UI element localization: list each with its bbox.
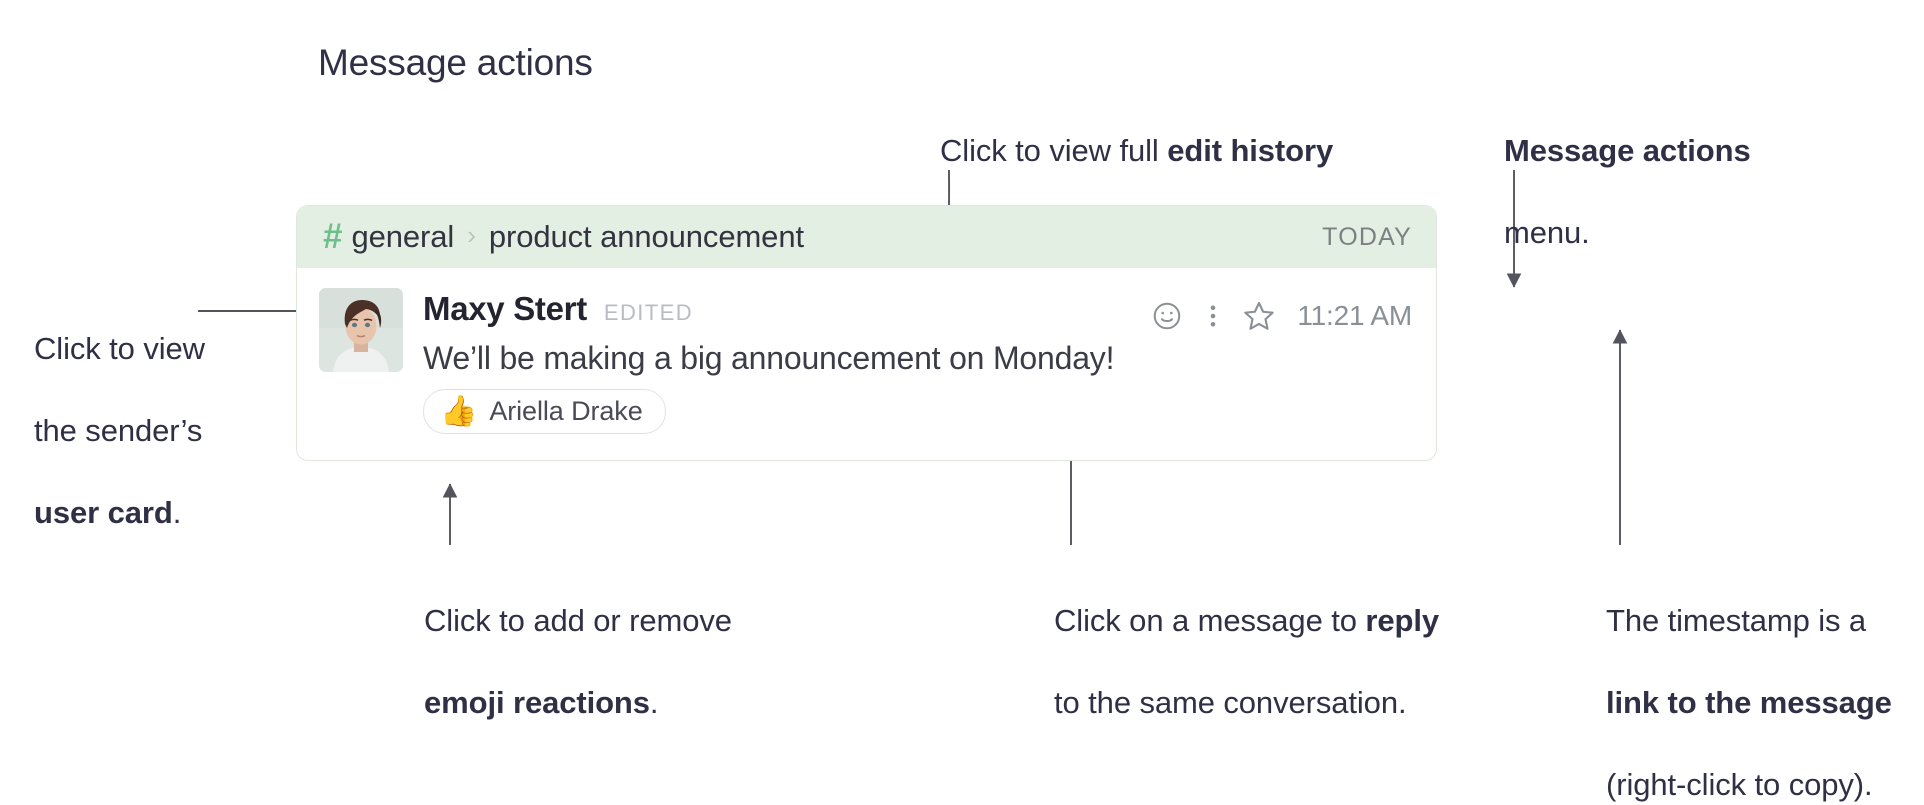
- annotation-reply-line1-bold: reply: [1365, 603, 1439, 638]
- date-label: TODAY: [1322, 223, 1412, 252]
- sender-name[interactable]: Maxy Stert: [423, 290, 587, 328]
- annotation-user-card-line3-bold: user card: [34, 495, 173, 530]
- annotation-actions-menu: Message actions menu.: [1504, 90, 1804, 254]
- annotation-emoji-reactions-line2-bold: emoji reactions: [424, 685, 650, 720]
- reaction-pill[interactable]: 👍 Ariella Drake: [423, 389, 666, 434]
- channel-header: # general › product announcement TODAY: [297, 206, 1436, 268]
- annotation-user-card-line2: the sender’s: [34, 413, 202, 448]
- thumbs-up-emoji: 👍: [440, 397, 477, 427]
- reaction-user-name: Ariella Drake: [489, 396, 642, 427]
- message-card: # general › product announcement TODAY: [296, 205, 1437, 461]
- annotation-emoji-reactions-line1: Click to add or remove: [424, 603, 732, 638]
- message-text[interactable]: We’ll be making a big announcement on Mo…: [423, 340, 1416, 377]
- breadcrumb-topic[interactable]: product announcement: [489, 219, 804, 255]
- message-actions-toolbar: 11:21 AM: [1141, 296, 1412, 336]
- annotation-reply-line2: to the same conversation.: [1054, 685, 1406, 720]
- message-row[interactable]: Maxy Stert EDITED We’ll be making a big …: [297, 268, 1436, 461]
- breadcrumb-channel[interactable]: general: [351, 219, 454, 255]
- annotation-edit-history-line1-bold: edit history: [1167, 133, 1333, 168]
- annotation-user-card: Click to view the sender’s user card.: [34, 288, 224, 533]
- avatar[interactable]: [319, 288, 403, 372]
- diagram-canvas: Message actions Click to view the sender…: [0, 0, 1924, 696]
- reactions-row: 👍 Ariella Drake: [423, 389, 1436, 434]
- annotation-reply: Click on a message to reply to the same …: [1054, 560, 1474, 724]
- annotation-timestamp-link-line1: The timestamp is a: [1606, 603, 1866, 638]
- star-outline-icon[interactable]: [1233, 296, 1285, 336]
- annotation-user-card-line1: Click to view: [34, 331, 205, 366]
- annotation-timestamp-link-line2-bold: link to the message: [1606, 685, 1892, 720]
- more-vertical-dots-icon[interactable]: [1193, 296, 1233, 336]
- annotation-timestamp-link-line3: (right-click to copy).: [1606, 767, 1873, 802]
- page-title: Message actions: [318, 42, 593, 84]
- annotation-reply-line1-pre: Click on a message to: [1054, 603, 1365, 638]
- annotation-actions-menu-line1-bold: Message actions: [1504, 133, 1751, 168]
- message-timestamp-link[interactable]: 11:21 AM: [1297, 300, 1412, 332]
- annotation-emoji-reactions-line2-tail: .: [650, 685, 659, 720]
- hash-icon: #: [323, 219, 342, 254]
- annotation-edit-history-line1-pre: Click to view full: [940, 133, 1167, 168]
- edited-badge[interactable]: EDITED: [604, 300, 693, 326]
- chevron-right-icon: ›: [467, 220, 476, 251]
- avatar-image: [319, 288, 403, 372]
- annotation-emoji-reactions: Click to add or remove emoji reactions.: [424, 560, 784, 724]
- emoji-smiley-icon[interactable]: [1141, 296, 1193, 336]
- annotation-timestamp-link: The timestamp is a link to the message (…: [1606, 560, 1924, 805]
- annotation-actions-menu-line2: menu.: [1504, 215, 1590, 250]
- annotation-user-card-line3-tail: .: [173, 495, 182, 530]
